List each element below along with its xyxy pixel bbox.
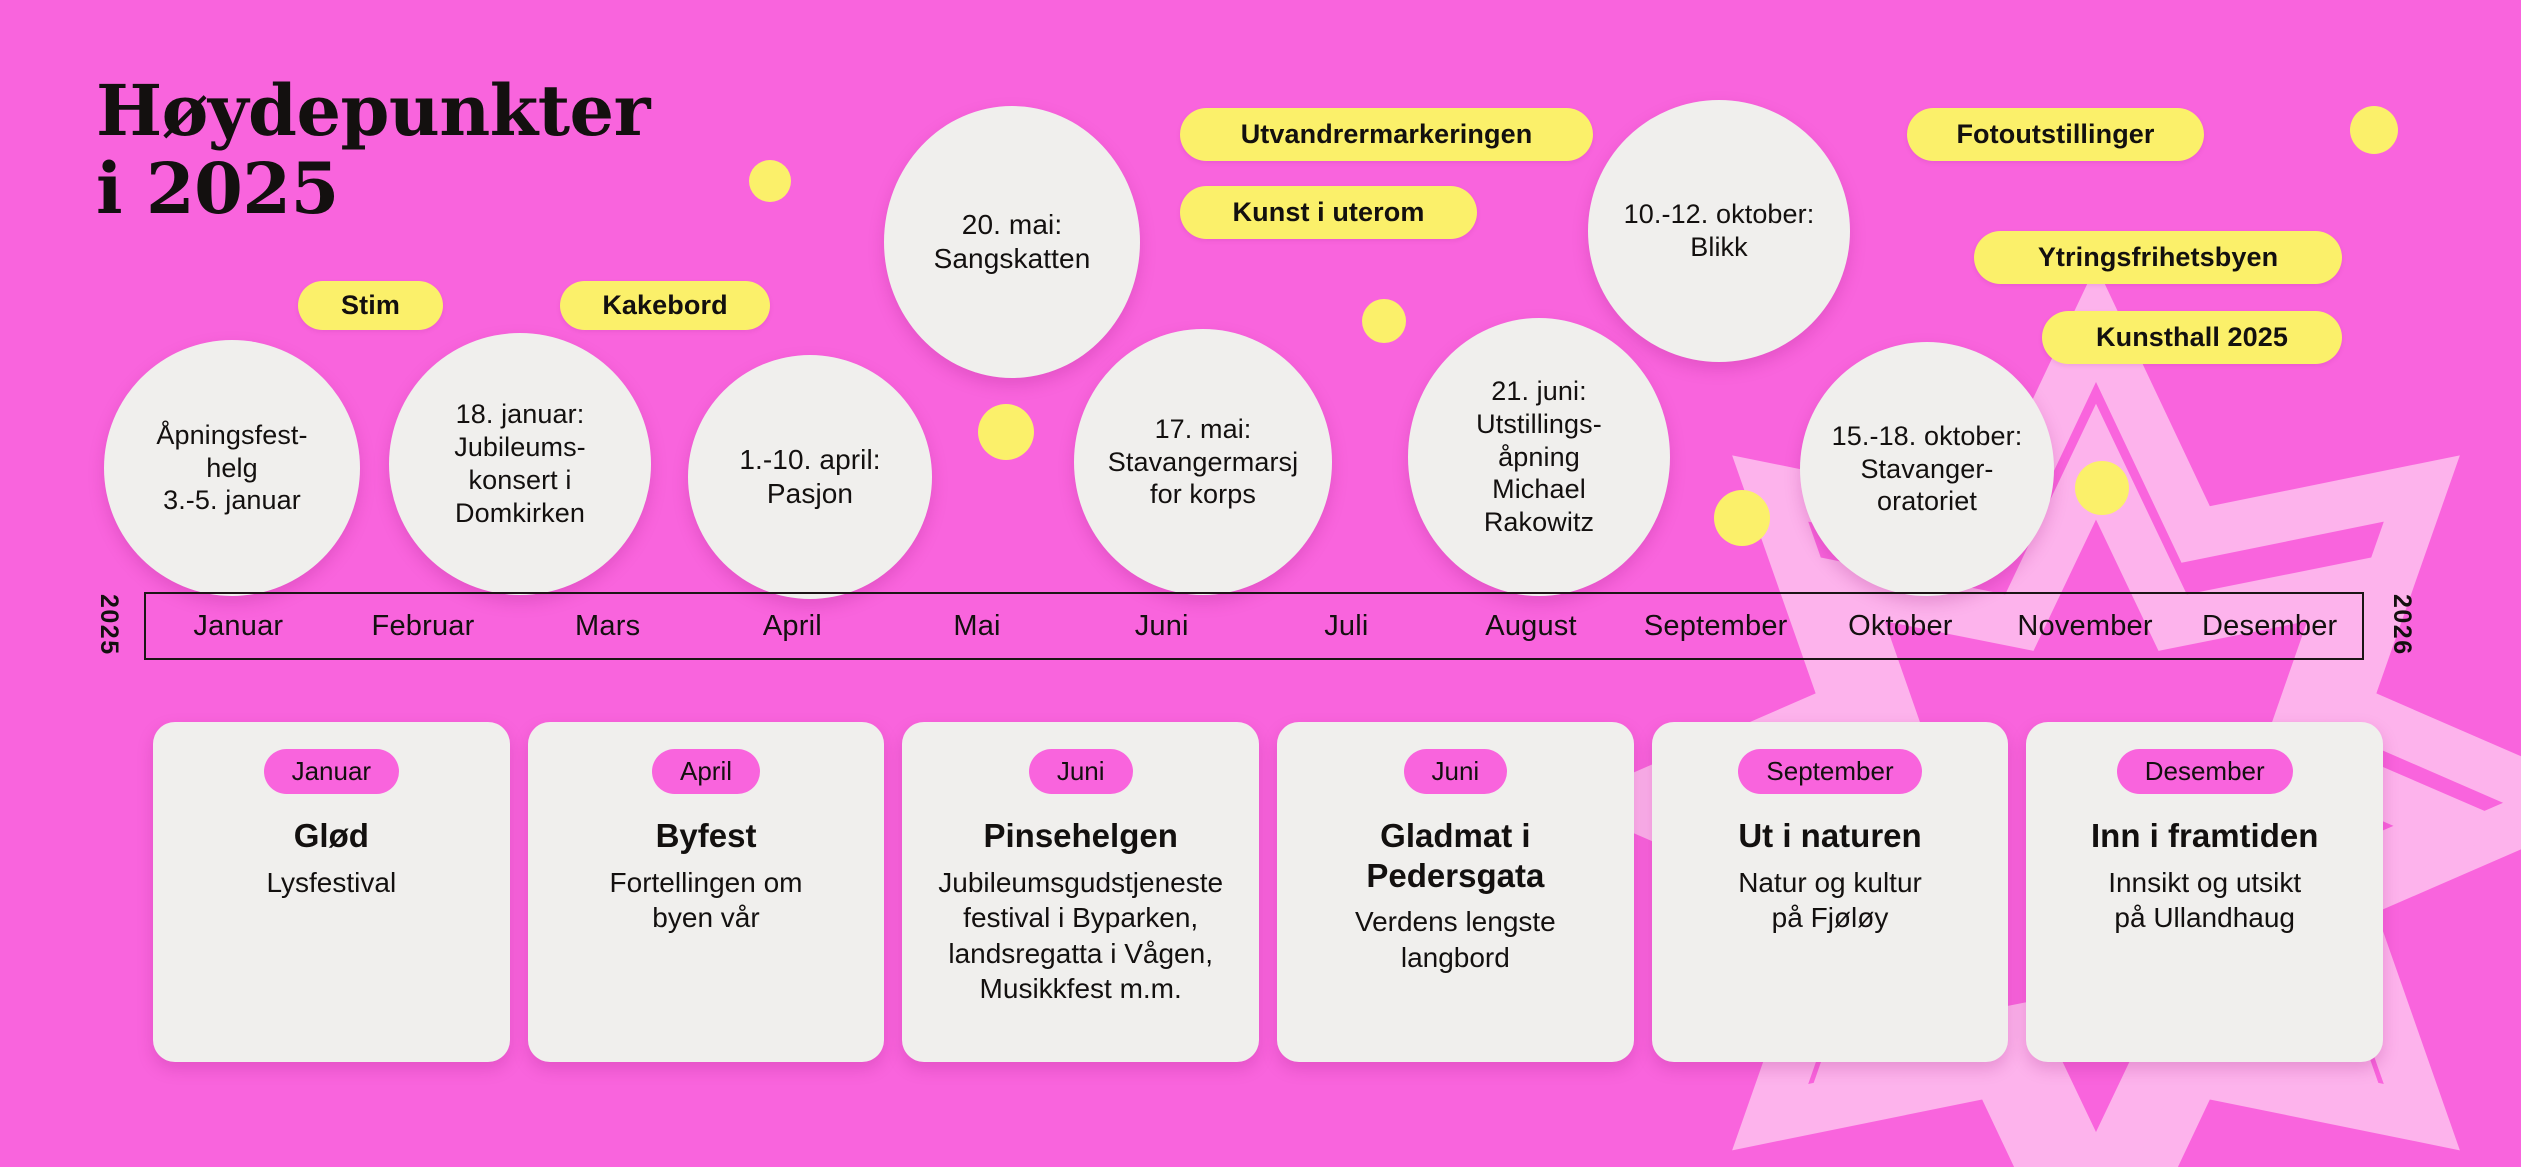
tag-label: Stim bbox=[341, 290, 400, 321]
decorative-dot bbox=[1362, 299, 1406, 343]
event-bubble-stavangermarsj[interactable]: 17. mai: Stavangermarsj for korps bbox=[1074, 329, 1332, 595]
highlight-card-byfest[interactable]: April Byfest Fortellingen om byen vår bbox=[528, 722, 885, 1062]
timeline: 2025 Januar Februar Mars April Mai Juni … bbox=[96, 592, 2414, 660]
timeline-month-desember[interactable]: Desember bbox=[2177, 610, 2362, 643]
event-text: Åpningsfest- helg 3.-5. januar bbox=[156, 419, 307, 518]
timeline-month-mai[interactable]: Mai bbox=[885, 610, 1070, 643]
card-month-badge: Juni bbox=[1404, 749, 1508, 794]
card-title: Gladmat i Pedersgata bbox=[1366, 816, 1544, 895]
decorative-dot bbox=[2075, 461, 2129, 515]
card-subtitle: Natur og kultur på Fjøløy bbox=[1738, 865, 1922, 936]
highlight-card-glod[interactable]: Januar Glød Lysfestival bbox=[153, 722, 510, 1062]
decorative-dot bbox=[749, 160, 791, 202]
timeline-year-start: 2025 bbox=[96, 594, 121, 656]
timeline-month-mars[interactable]: Mars bbox=[515, 610, 700, 643]
card-title: Inn i framtiden bbox=[2091, 816, 2318, 856]
decorative-dot bbox=[978, 404, 1034, 460]
card-month-badge: Juni bbox=[1029, 749, 1133, 794]
card-month-badge: September bbox=[1738, 749, 1921, 794]
event-text: 10.-12. oktober: Blikk bbox=[1624, 198, 1815, 264]
timeline-year-end: 2026 bbox=[2389, 594, 2414, 656]
event-bubble-pasjon[interactable]: 1.-10. april: Pasjon bbox=[688, 355, 932, 599]
event-text: 18. januar: Jubileums- konsert i Domkirk… bbox=[454, 398, 586, 530]
highlight-card-gladmat[interactable]: Juni Gladmat i Pedersgata Verdens lengst… bbox=[1277, 722, 1634, 1062]
event-bubble-sangskatten[interactable]: 20. mai: Sangskatten bbox=[884, 106, 1140, 378]
card-subtitle: Jubileumsgudstjeneste festival i Byparke… bbox=[938, 865, 1223, 1007]
event-bubble-blikk[interactable]: 10.-12. oktober: Blikk bbox=[1588, 100, 1850, 362]
card-month-badge: April bbox=[652, 749, 760, 794]
card-month-badge: Januar bbox=[264, 749, 400, 794]
tag-label: Fotoutstillinger bbox=[1956, 119, 2154, 150]
card-title: Byfest bbox=[656, 816, 757, 856]
event-text: 20. mai: Sangskatten bbox=[934, 208, 1091, 276]
tag-label: Kakebord bbox=[602, 290, 727, 321]
decorative-dot bbox=[2350, 106, 2398, 154]
tag-kunst-i-uterom[interactable]: Kunst i uterom bbox=[1180, 186, 1477, 239]
card-subtitle: Verdens lengste langbord bbox=[1355, 904, 1556, 975]
card-month-badge: Desember bbox=[2117, 749, 2293, 794]
tag-fotoutstillinger[interactable]: Fotoutstillinger bbox=[1907, 108, 2204, 161]
highlight-card-inn-i-framtiden[interactable]: Desember Inn i framtiden Innsikt og utsi… bbox=[2026, 722, 2383, 1062]
card-title: Ut i naturen bbox=[1738, 816, 1921, 856]
tag-label: Kunsthall 2025 bbox=[2096, 322, 2288, 353]
event-bubble-stavangeroratoriet[interactable]: 15.-18. oktober: Stavanger- oratoriet bbox=[1800, 342, 2054, 596]
timeline-month-september[interactable]: September bbox=[1623, 610, 1808, 643]
tag-label: Utvandrermarkeringen bbox=[1241, 119, 1533, 150]
timeline-month-november[interactable]: November bbox=[1993, 610, 2178, 643]
timeline-month-juli[interactable]: Juli bbox=[1254, 610, 1439, 643]
highlight-card-ut-i-naturen[interactable]: September Ut i naturen Natur og kultur p… bbox=[1652, 722, 2009, 1062]
highlight-card-list: Januar Glød Lysfestival April Byfest For… bbox=[153, 722, 2383, 1062]
card-subtitle: Fortellingen om byen vår bbox=[610, 865, 803, 936]
card-subtitle: Lysfestival bbox=[266, 865, 396, 901]
tag-utvandrermarkeringen[interactable]: Utvandrermarkeringen bbox=[1180, 108, 1593, 161]
timeline-bar: Januar Februar Mars April Mai Juni Juli … bbox=[144, 592, 2364, 660]
timeline-month-oktober[interactable]: Oktober bbox=[1808, 610, 1993, 643]
infographic-canvas: Høydepunkter i 2025 Stim Kakebord Utvand… bbox=[0, 0, 2521, 1167]
event-text: 15.-18. oktober: Stavanger- oratoriet bbox=[1832, 420, 2023, 519]
card-title: Glød bbox=[294, 816, 369, 856]
tag-kakebord[interactable]: Kakebord bbox=[560, 281, 770, 330]
timeline-month-august[interactable]: August bbox=[1439, 610, 1624, 643]
event-bubble-rakowitz[interactable]: 21. juni: Utstillings- åpning Michael Ra… bbox=[1408, 318, 1670, 596]
timeline-month-april[interactable]: April bbox=[700, 610, 885, 643]
event-text: 17. mai: Stavangermarsj for korps bbox=[1108, 413, 1298, 512]
tag-label: Ytringsfrihetsbyen bbox=[2038, 242, 2278, 273]
page-title: Høydepunkter i 2025 bbox=[96, 72, 650, 229]
card-title: Pinsehelgen bbox=[983, 816, 1177, 856]
card-subtitle: Innsikt og utsikt på Ullandhaug bbox=[2108, 865, 2301, 936]
tag-ytringsfrihetsbyen[interactable]: Ytringsfrihetsbyen bbox=[1974, 231, 2342, 284]
decorative-dot bbox=[1714, 490, 1770, 546]
tag-kunsthall-2025[interactable]: Kunsthall 2025 bbox=[2042, 311, 2342, 364]
event-text: 1.-10. april: Pasjon bbox=[739, 443, 880, 511]
event-bubble-jubileumskonsert[interactable]: 18. januar: Jubileums- konsert i Domkirk… bbox=[389, 333, 651, 595]
tag-label: Kunst i uterom bbox=[1233, 197, 1425, 228]
timeline-month-februar[interactable]: Februar bbox=[331, 610, 516, 643]
highlight-card-pinsehelgen[interactable]: Juni Pinsehelgen Jubileumsgudstjeneste f… bbox=[902, 722, 1259, 1062]
event-text: 21. juni: Utstillings- åpning Michael Ra… bbox=[1476, 375, 1602, 540]
event-bubble-apningsfesthelg[interactable]: Åpningsfest- helg 3.-5. januar bbox=[104, 340, 360, 596]
timeline-month-januar[interactable]: Januar bbox=[146, 610, 331, 643]
timeline-month-juni[interactable]: Juni bbox=[1069, 610, 1254, 643]
tag-stim[interactable]: Stim bbox=[298, 281, 443, 330]
